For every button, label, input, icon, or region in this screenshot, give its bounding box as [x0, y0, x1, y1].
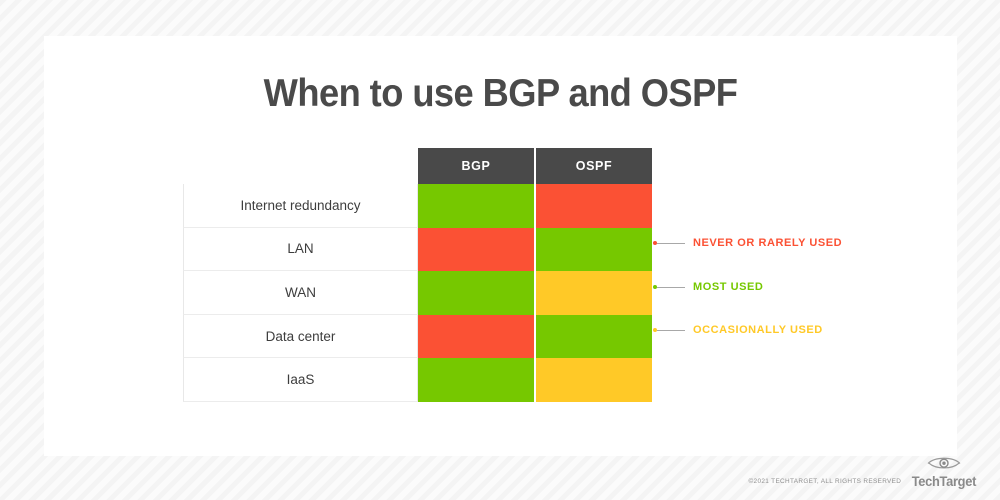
row-label: Data center [183, 315, 418, 359]
table-row: WAN [183, 271, 653, 315]
cell-ospf [536, 184, 652, 228]
legend-connector-line [657, 330, 685, 331]
legend-item-most: MOST USED [653, 280, 763, 294]
row-cells [418, 184, 652, 228]
matrix-header-row: BGP OSPF [418, 148, 653, 184]
cell-ospf [536, 228, 652, 272]
page-title: When to use BGP and OSPF [76, 72, 925, 116]
table-row: IaaS [183, 358, 653, 402]
legend-label-never: NEVER OR RARELY USED [693, 237, 842, 249]
row-cells [418, 271, 652, 315]
legend-connector-line [657, 287, 685, 288]
copyright-text: ©2021 TECHTARGET, ALL RIGHTS RESERVED [749, 478, 902, 488]
table-row: LAN [183, 228, 653, 272]
cell-ospf [536, 358, 652, 402]
legend-item-never: NEVER OR RARELY USED [653, 236, 842, 250]
row-cells [418, 228, 652, 272]
column-header-bgp: BGP [418, 148, 534, 184]
row-label: WAN [183, 271, 418, 315]
row-cells [418, 315, 652, 359]
cell-ospf [536, 271, 652, 315]
cell-bgp [418, 315, 534, 359]
techtarget-logo: TechTarget [910, 455, 978, 489]
slide-canvas: When to use BGP and OSPF BGP OSPF Intern… [44, 36, 957, 456]
eye-target-icon [926, 455, 962, 475]
legend-label-most: MOST USED [693, 281, 763, 293]
cell-bgp [418, 184, 534, 228]
cell-bgp [418, 271, 534, 315]
column-header-ospf: OSPF [536, 148, 652, 184]
table-row: Data center [183, 315, 653, 359]
legend-item-occasionally: OCCASIONALLY USED [653, 323, 823, 337]
footer: ©2021 TECHTARGET, ALL RIGHTS RESERVED Te… [749, 455, 979, 489]
comparison-matrix: BGP OSPF Internet redundancy LAN WAN [183, 148, 653, 402]
row-label: IaaS [183, 358, 418, 402]
row-label: Internet redundancy [183, 184, 418, 228]
techtarget-wordmark: TechTarget [912, 475, 976, 489]
row-label: LAN [183, 228, 418, 272]
row-cells [418, 358, 652, 402]
cell-bgp [418, 358, 534, 402]
cell-bgp [418, 228, 534, 272]
legend-connector-line [657, 243, 685, 244]
legend-label-occasionally: OCCASIONALLY USED [693, 324, 823, 336]
table-row: Internet redundancy [183, 184, 653, 228]
cell-ospf [536, 315, 652, 359]
